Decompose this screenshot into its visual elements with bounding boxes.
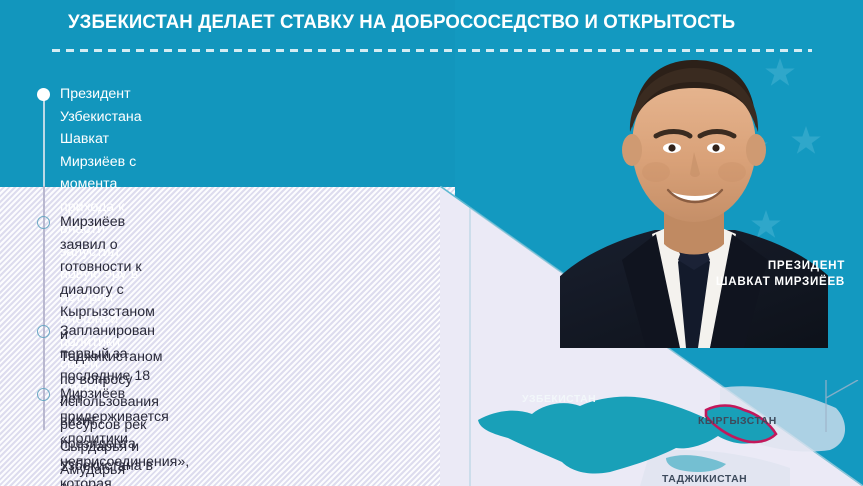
- map-label-tajikistan: ТАДЖИКИСТАН: [662, 474, 747, 485]
- map-label-kyrgyzstan: КЫРГЫЗСТАН: [698, 416, 777, 427]
- bullet-marker-hollow-icon: [37, 388, 50, 401]
- map-label-uzbekistan: УЗБЕКИСТАН: [522, 394, 596, 405]
- bullet-marker-hollow-icon: [37, 216, 50, 229]
- infographic-root: ПРЕЗИДЕНТ ШАВКАТ МИРЗИЁЕВ УЗБЕКИСТАН ДЕЛ…: [0, 0, 863, 486]
- bullet-marker-filled-icon: [37, 88, 50, 101]
- header-divider: [52, 49, 812, 52]
- page-title: УЗБЕКИСТАН ДЕЛАЕТ СТАВКУ НА ДОБРОСОСЕДСТ…: [68, 11, 794, 34]
- president-portrait: [560, 48, 828, 348]
- bullet-marker-hollow-icon: [37, 325, 50, 338]
- timeline-rail: [43, 100, 45, 430]
- portrait-caption: ПРЕЗИДЕНТ ШАВКАТ МИРЗИЁЕВ: [716, 258, 845, 289]
- central-asia-map: УЗБЕКИСТАН КЫРГЫЗСТАН ТАДЖИКИСТАН: [470, 380, 863, 486]
- caption-role: ПРЕЗИДЕНТ: [716, 258, 845, 274]
- list-item-text: Мирзиёев придерживается «политики неприс…: [60, 383, 189, 486]
- caption-name: ШАВКАТ МИРЗИЁЕВ: [716, 274, 845, 290]
